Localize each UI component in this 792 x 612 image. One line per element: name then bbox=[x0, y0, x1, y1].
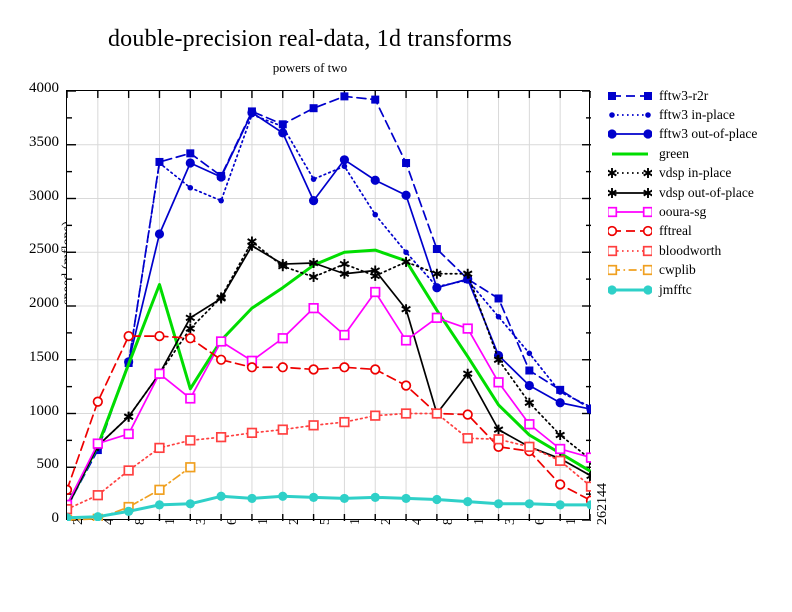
legend-label: ooura-sg bbox=[652, 204, 706, 220]
series-fftw3-out-of-place bbox=[67, 108, 591, 513]
legend-swatch-jmfftc bbox=[608, 282, 652, 298]
legend-item[interactable]: green bbox=[608, 144, 788, 163]
y-tick-label: 3500 bbox=[0, 135, 59, 150]
legend-item[interactable]: bloodworth bbox=[608, 241, 788, 260]
legend-item[interactable]: vdsp in-place bbox=[608, 164, 788, 183]
legend-item[interactable]: jmfftc bbox=[608, 280, 788, 299]
legend-label: bloodworth bbox=[652, 243, 721, 259]
series-fftw3-r2r bbox=[67, 92, 591, 511]
legend-item[interactable]: fftreal bbox=[608, 222, 788, 241]
series-vdsp-out-of-place bbox=[67, 241, 591, 512]
legend-swatch-bloodworth bbox=[608, 243, 652, 259]
legend-label: vdsp in-place bbox=[652, 165, 731, 181]
series-fftw3-in-place bbox=[67, 112, 591, 511]
y-tick-label: 1000 bbox=[0, 404, 59, 419]
legend-item[interactable]: ooura-sg bbox=[608, 202, 788, 221]
legend-swatch-fftreal bbox=[608, 223, 652, 239]
y-tick-label: 1500 bbox=[0, 350, 59, 365]
legend-item[interactable]: fftw3 out-of-place bbox=[608, 125, 788, 144]
legend-item[interactable]: fftw3-r2r bbox=[608, 86, 788, 105]
chart-title: double-precision real-data, 1d transform… bbox=[0, 26, 620, 53]
legend-swatch-fftw3-in-place bbox=[608, 107, 652, 123]
y-tick-label: 2000 bbox=[0, 296, 59, 311]
legend-swatch-ooura-sg bbox=[608, 204, 652, 220]
chart-legend: fftw3-r2rfftw3 in-placefftw3 out-of-plac… bbox=[608, 86, 788, 299]
legend-item[interactable]: cwplib bbox=[608, 261, 788, 280]
legend-swatch-vdsp-out-of-place bbox=[608, 185, 652, 201]
y-tick-label: 0 bbox=[0, 511, 59, 526]
plot-series bbox=[67, 91, 591, 521]
y-tick-label: 2500 bbox=[0, 242, 59, 257]
y-tick-label: 3000 bbox=[0, 189, 59, 204]
legend-swatch-cwplib bbox=[608, 262, 652, 278]
legend-swatch-green bbox=[608, 146, 652, 162]
series-vdsp-in-place bbox=[67, 237, 591, 513]
legend-label: fftw3-r2r bbox=[652, 88, 708, 104]
legend-item[interactable]: vdsp out-of-place bbox=[608, 183, 788, 202]
legend-label: cwplib bbox=[652, 262, 696, 278]
y-tick-label: 4000 bbox=[0, 81, 59, 96]
plot-area bbox=[66, 90, 590, 520]
chart-container: double-precision real-data, 1d transform… bbox=[0, 0, 792, 612]
legend-swatch-fftw3-out-of-place bbox=[608, 126, 652, 142]
legend-label: green bbox=[652, 146, 689, 162]
legend-label: fftreal bbox=[652, 223, 692, 239]
x-tick-label: 262144 bbox=[596, 483, 610, 525]
legend-label: jmfftc bbox=[652, 282, 692, 298]
legend-label: fftw3 out-of-place bbox=[652, 126, 757, 142]
legend-label: fftw3 in-place bbox=[652, 107, 735, 123]
legend-swatch-vdsp-in-place bbox=[608, 165, 652, 181]
legend-item[interactable]: fftw3 in-place bbox=[608, 105, 788, 124]
legend-swatch-fftw3-r2r bbox=[608, 88, 652, 104]
chart-subtitle: powers of two bbox=[0, 60, 620, 76]
y-tick-label: 500 bbox=[0, 457, 59, 472]
legend-label: vdsp out-of-place bbox=[652, 185, 754, 201]
series-jmfftc bbox=[67, 492, 591, 521]
